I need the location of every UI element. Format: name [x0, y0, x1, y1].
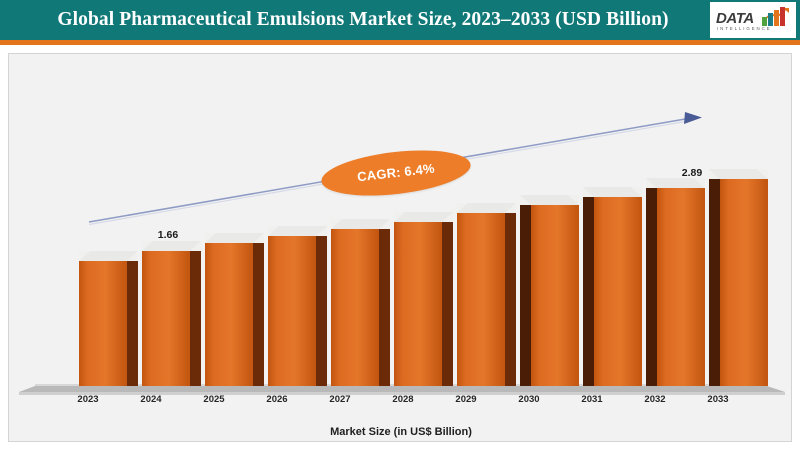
x-axis-title: Market Size (in US$ Billion) [9, 426, 792, 438]
bar-2023-top [79, 251, 138, 261]
bar-chart-growth-icon [762, 7, 792, 26]
bar-2024-front [142, 248, 190, 386]
x-tick-2028: 2028 [370, 394, 436, 405]
bar-2033[interactable] [720, 176, 768, 386]
x-axis-tick-labels: 2023 2024 2025 2026 2027 2028 2029 2030 … [9, 394, 792, 414]
bar-2026-front [268, 233, 316, 386]
brand-tagline: INTELLIGENCE [717, 26, 772, 31]
bar-2032-front [657, 185, 705, 386]
logo-bar-3 [774, 10, 779, 26]
bar-2028[interactable] [394, 219, 442, 386]
x-tick-2027: 2027 [307, 394, 373, 405]
bar-2029-side [505, 210, 516, 386]
x-tick-2030: 2030 [496, 394, 562, 405]
bar-2029-top [457, 203, 516, 213]
bar-2024[interactable] [142, 248, 190, 386]
brand-wordmark: DATA [716, 10, 754, 27]
bar-2027[interactable] [331, 226, 379, 386]
bar-2028-front [394, 219, 442, 386]
bar-2023-side [127, 258, 138, 386]
bar-2032-side [646, 185, 657, 386]
brand-logo: DATA INTELLIGENCE [710, 2, 796, 38]
bar-2031-top [583, 187, 642, 197]
x-tick-2029: 2029 [433, 394, 499, 405]
x-tick-2023: 2023 [55, 394, 121, 405]
x-tick-2033: 2033 [685, 394, 751, 405]
bar-2024-side [190, 248, 201, 386]
x-tick-2026: 2026 [244, 394, 310, 405]
bar-2026-top [268, 226, 327, 236]
bar-2023-front [79, 258, 127, 386]
bar-2030-side [520, 202, 531, 386]
bar-2030-top [520, 195, 579, 205]
bar-2031[interactable] [594, 194, 642, 386]
bar-2025[interactable] [205, 240, 253, 386]
bar-2029-front [457, 210, 505, 386]
chart-slide: Global Pharmaceutical Emulsions Market S… [0, 0, 800, 450]
bar-2025-top [205, 233, 264, 243]
bar-2023[interactable] [79, 258, 127, 386]
logo-bar-1 [762, 17, 767, 26]
bar-2032[interactable] [657, 185, 705, 386]
x-tick-2031: 2031 [559, 394, 625, 405]
logo-bar-2 [768, 13, 773, 26]
bar-2032-top [646, 178, 705, 188]
bar-2028-side [442, 219, 453, 386]
logo-bar-4 [780, 7, 785, 26]
x-tick-2024: 2024 [118, 394, 184, 405]
bar-2026[interactable] [268, 233, 316, 386]
bar-2026-side [316, 233, 327, 386]
page-title: Global Pharmaceutical Emulsions Market S… [18, 0, 708, 40]
x-tick-2032: 2032 [622, 394, 688, 405]
bar-2027-front [331, 226, 379, 386]
bar-2024-top [142, 241, 201, 251]
brand-logo-inner: DATA INTELLIGENCE [710, 2, 796, 38]
x-tick-2025: 2025 [181, 394, 247, 405]
bar-2027-top [331, 219, 390, 229]
bar-label-2024: 1.66 [140, 229, 196, 241]
bar-2025-front [205, 240, 253, 386]
bar-2025-side [253, 240, 264, 386]
header-accent-rule [0, 40, 800, 45]
chart-plot-area: 1.66 [8, 53, 792, 442]
bar-label-2033: 2.89 [664, 167, 720, 179]
bar-2031-side [583, 194, 594, 386]
bar-2033-side [709, 176, 720, 386]
bar-series: 1.66 [9, 54, 792, 442]
bar-2031-front [594, 194, 642, 386]
bar-2030-front [531, 202, 579, 386]
bar-2033-front [720, 176, 768, 386]
bar-2029[interactable] [457, 210, 505, 386]
bar-2030[interactable] [531, 202, 579, 386]
bar-2028-top [394, 212, 453, 222]
bar-2027-side [379, 226, 390, 386]
